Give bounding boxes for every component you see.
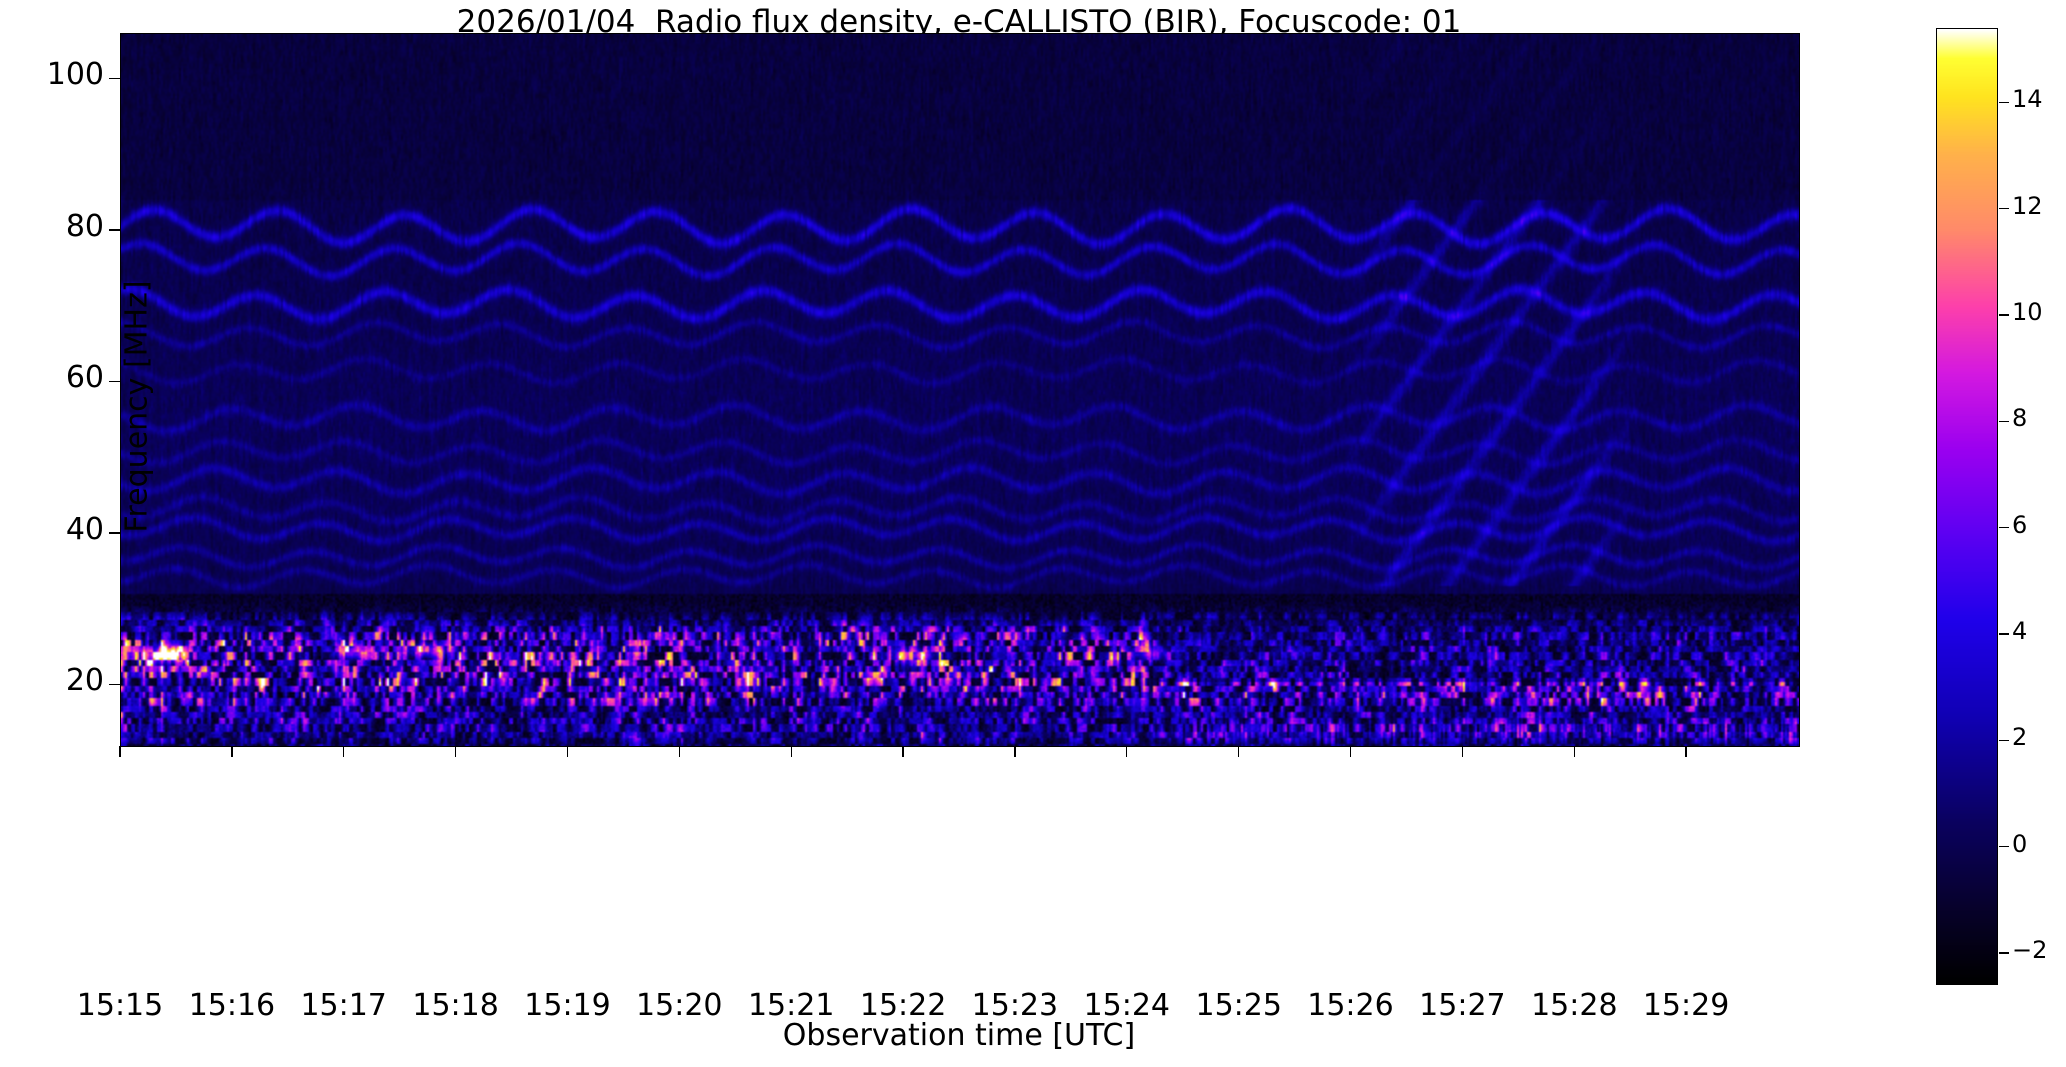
colorbar-gradient [1936, 28, 1998, 985]
colorbar-tick-mark [1999, 102, 2009, 103]
y-tick-label: 20 [66, 663, 104, 698]
x-tick-mark [1350, 746, 1351, 757]
x-tick-mark [679, 746, 680, 757]
colorbar-tick-mark [1999, 527, 2009, 528]
colorbar-tick-label: 0 [2012, 830, 2027, 858]
colorbar-tick-label: 14 [2012, 85, 2043, 113]
spectrogram-figure: 2026/01/04 Radio flux density, e-CALLIST… [0, 0, 2066, 1067]
colorbar-tick-label: 8 [2012, 404, 2027, 432]
y-tick-mark [109, 381, 120, 382]
y-tick-mark [109, 229, 120, 230]
y-tick-label: 60 [66, 360, 104, 395]
y-tick-mark [109, 532, 120, 533]
x-tick-mark [1462, 746, 1463, 757]
colorbar-tick-label: 4 [2012, 617, 2027, 645]
x-tick-mark [902, 746, 903, 757]
y-axis-label: Frequency [MHz] [120, 237, 155, 577]
y-tick-mark [109, 684, 120, 685]
x-tick-mark [455, 746, 456, 757]
x-tick-mark [1014, 746, 1015, 757]
x-axis-label: Observation time [UTC] [120, 1018, 1798, 1053]
x-tick-mark [1238, 746, 1239, 757]
colorbar-tick-mark [1999, 208, 2009, 209]
colorbar-tick-mark [1999, 421, 2009, 422]
spectrogram-image [121, 34, 1799, 746]
y-tick-mark [109, 78, 120, 79]
x-tick-mark [231, 746, 232, 757]
colorbar-tick-mark [1999, 952, 2009, 953]
y-tick-label: 80 [66, 209, 104, 244]
x-tick-mark [1126, 746, 1127, 757]
y-tick-label: 100 [47, 57, 104, 92]
spectrogram-plot-area[interactable] [120, 33, 1800, 747]
x-tick-mark [791, 746, 792, 757]
x-tick-label: 15:29 [1616, 988, 1756, 1023]
colorbar-tick-mark [1999, 633, 2009, 634]
x-tick-mark [1574, 746, 1575, 757]
colorbar-tick-mark [1999, 314, 2009, 315]
y-tick-label: 40 [66, 512, 104, 547]
colorbar-tick-label: 2 [2012, 723, 2027, 751]
x-tick-mark [343, 746, 344, 757]
colorbar-tick-label: 6 [2012, 511, 2027, 539]
colorbar-tick-mark [1999, 846, 2009, 847]
x-tick-mark [1685, 746, 1686, 757]
x-tick-mark [119, 746, 120, 757]
colorbar[interactable] [1936, 28, 1998, 985]
colorbar-tick-label: 10 [2012, 298, 2043, 326]
colorbar-tick-mark [1999, 740, 2009, 741]
x-tick-mark [567, 746, 568, 757]
colorbar-tick-label: −2 [2012, 936, 2047, 964]
colorbar-tick-label: 12 [2012, 192, 2043, 220]
